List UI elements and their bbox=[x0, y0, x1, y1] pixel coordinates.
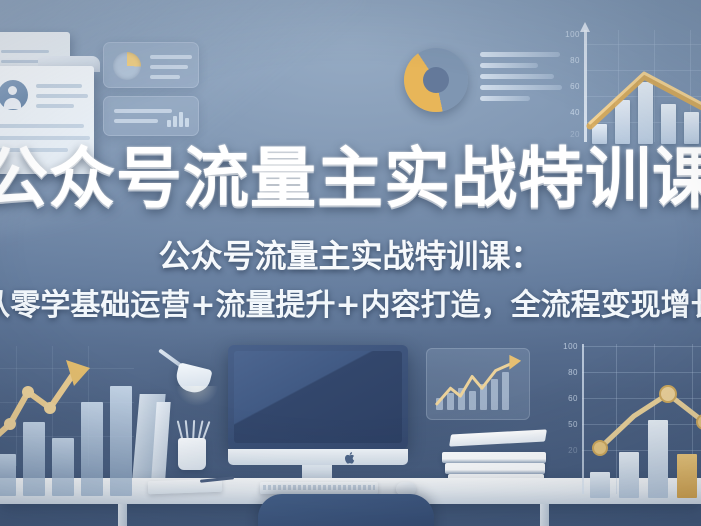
donut-legend-lines bbox=[480, 52, 562, 107]
bar-chart-card bbox=[103, 96, 199, 136]
y-tick-label: 40 bbox=[570, 108, 580, 117]
user-avatar-icon bbox=[0, 80, 28, 110]
pen-cup bbox=[178, 438, 206, 470]
desk-leg bbox=[118, 504, 127, 526]
donut-chart bbox=[404, 48, 468, 112]
y-tick-label: 20 bbox=[570, 130, 580, 139]
y-tick-label: 100 bbox=[565, 30, 580, 39]
book-stack bbox=[442, 438, 552, 482]
apple-logo-icon bbox=[345, 452, 356, 464]
page-title: 公众号流量主实战特训课 bbox=[0, 146, 701, 212]
growth-chart-card bbox=[426, 348, 530, 420]
imac-chin bbox=[228, 449, 408, 465]
poster-canvas: 100 80 60 40 20 bbox=[0, 0, 701, 526]
trend-line-peak bbox=[586, 66, 701, 138]
imac-monitor bbox=[228, 345, 408, 449]
y-tick-label: 80 bbox=[570, 56, 580, 65]
pie-chart-card bbox=[103, 42, 199, 88]
pie-chart-icon bbox=[113, 52, 141, 80]
course-tagline: 从零学基础运营+流量提升+内容打造，全流程变现增长 bbox=[0, 291, 701, 321]
course-subtitle: 公众号流量主实战特训课： bbox=[158, 240, 542, 272]
office-chair bbox=[258, 494, 434, 526]
desk-leg bbox=[540, 504, 549, 526]
keyboard bbox=[260, 482, 378, 494]
line-series bbox=[556, 344, 701, 512]
imac-screen bbox=[234, 351, 402, 443]
bottom-right-chart: 100 80 60 50 20 bbox=[556, 344, 701, 512]
trend-up-arrow-icon bbox=[0, 346, 144, 496]
top-right-chart: 100 80 60 40 20 bbox=[556, 26, 701, 154]
bottom-left-chart bbox=[0, 346, 144, 496]
y-tick-label: 60 bbox=[570, 82, 580, 91]
mini-bar-chart-icon bbox=[167, 110, 189, 127]
growth-arrow-icon bbox=[427, 349, 529, 420]
